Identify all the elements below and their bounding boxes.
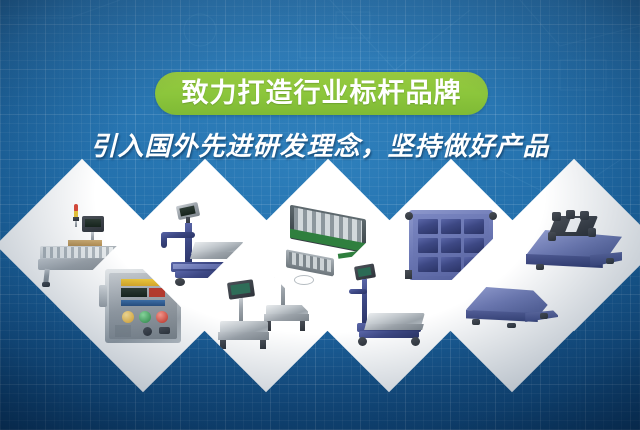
product-photo-heavy-duty-floor-scale bbox=[522, 202, 626, 288]
promo-banner: 致力打造行业标杆品牌 引入国外先进研发理念，坚持做好产品 bbox=[0, 0, 640, 430]
product-diamond-grid bbox=[0, 0, 640, 430]
